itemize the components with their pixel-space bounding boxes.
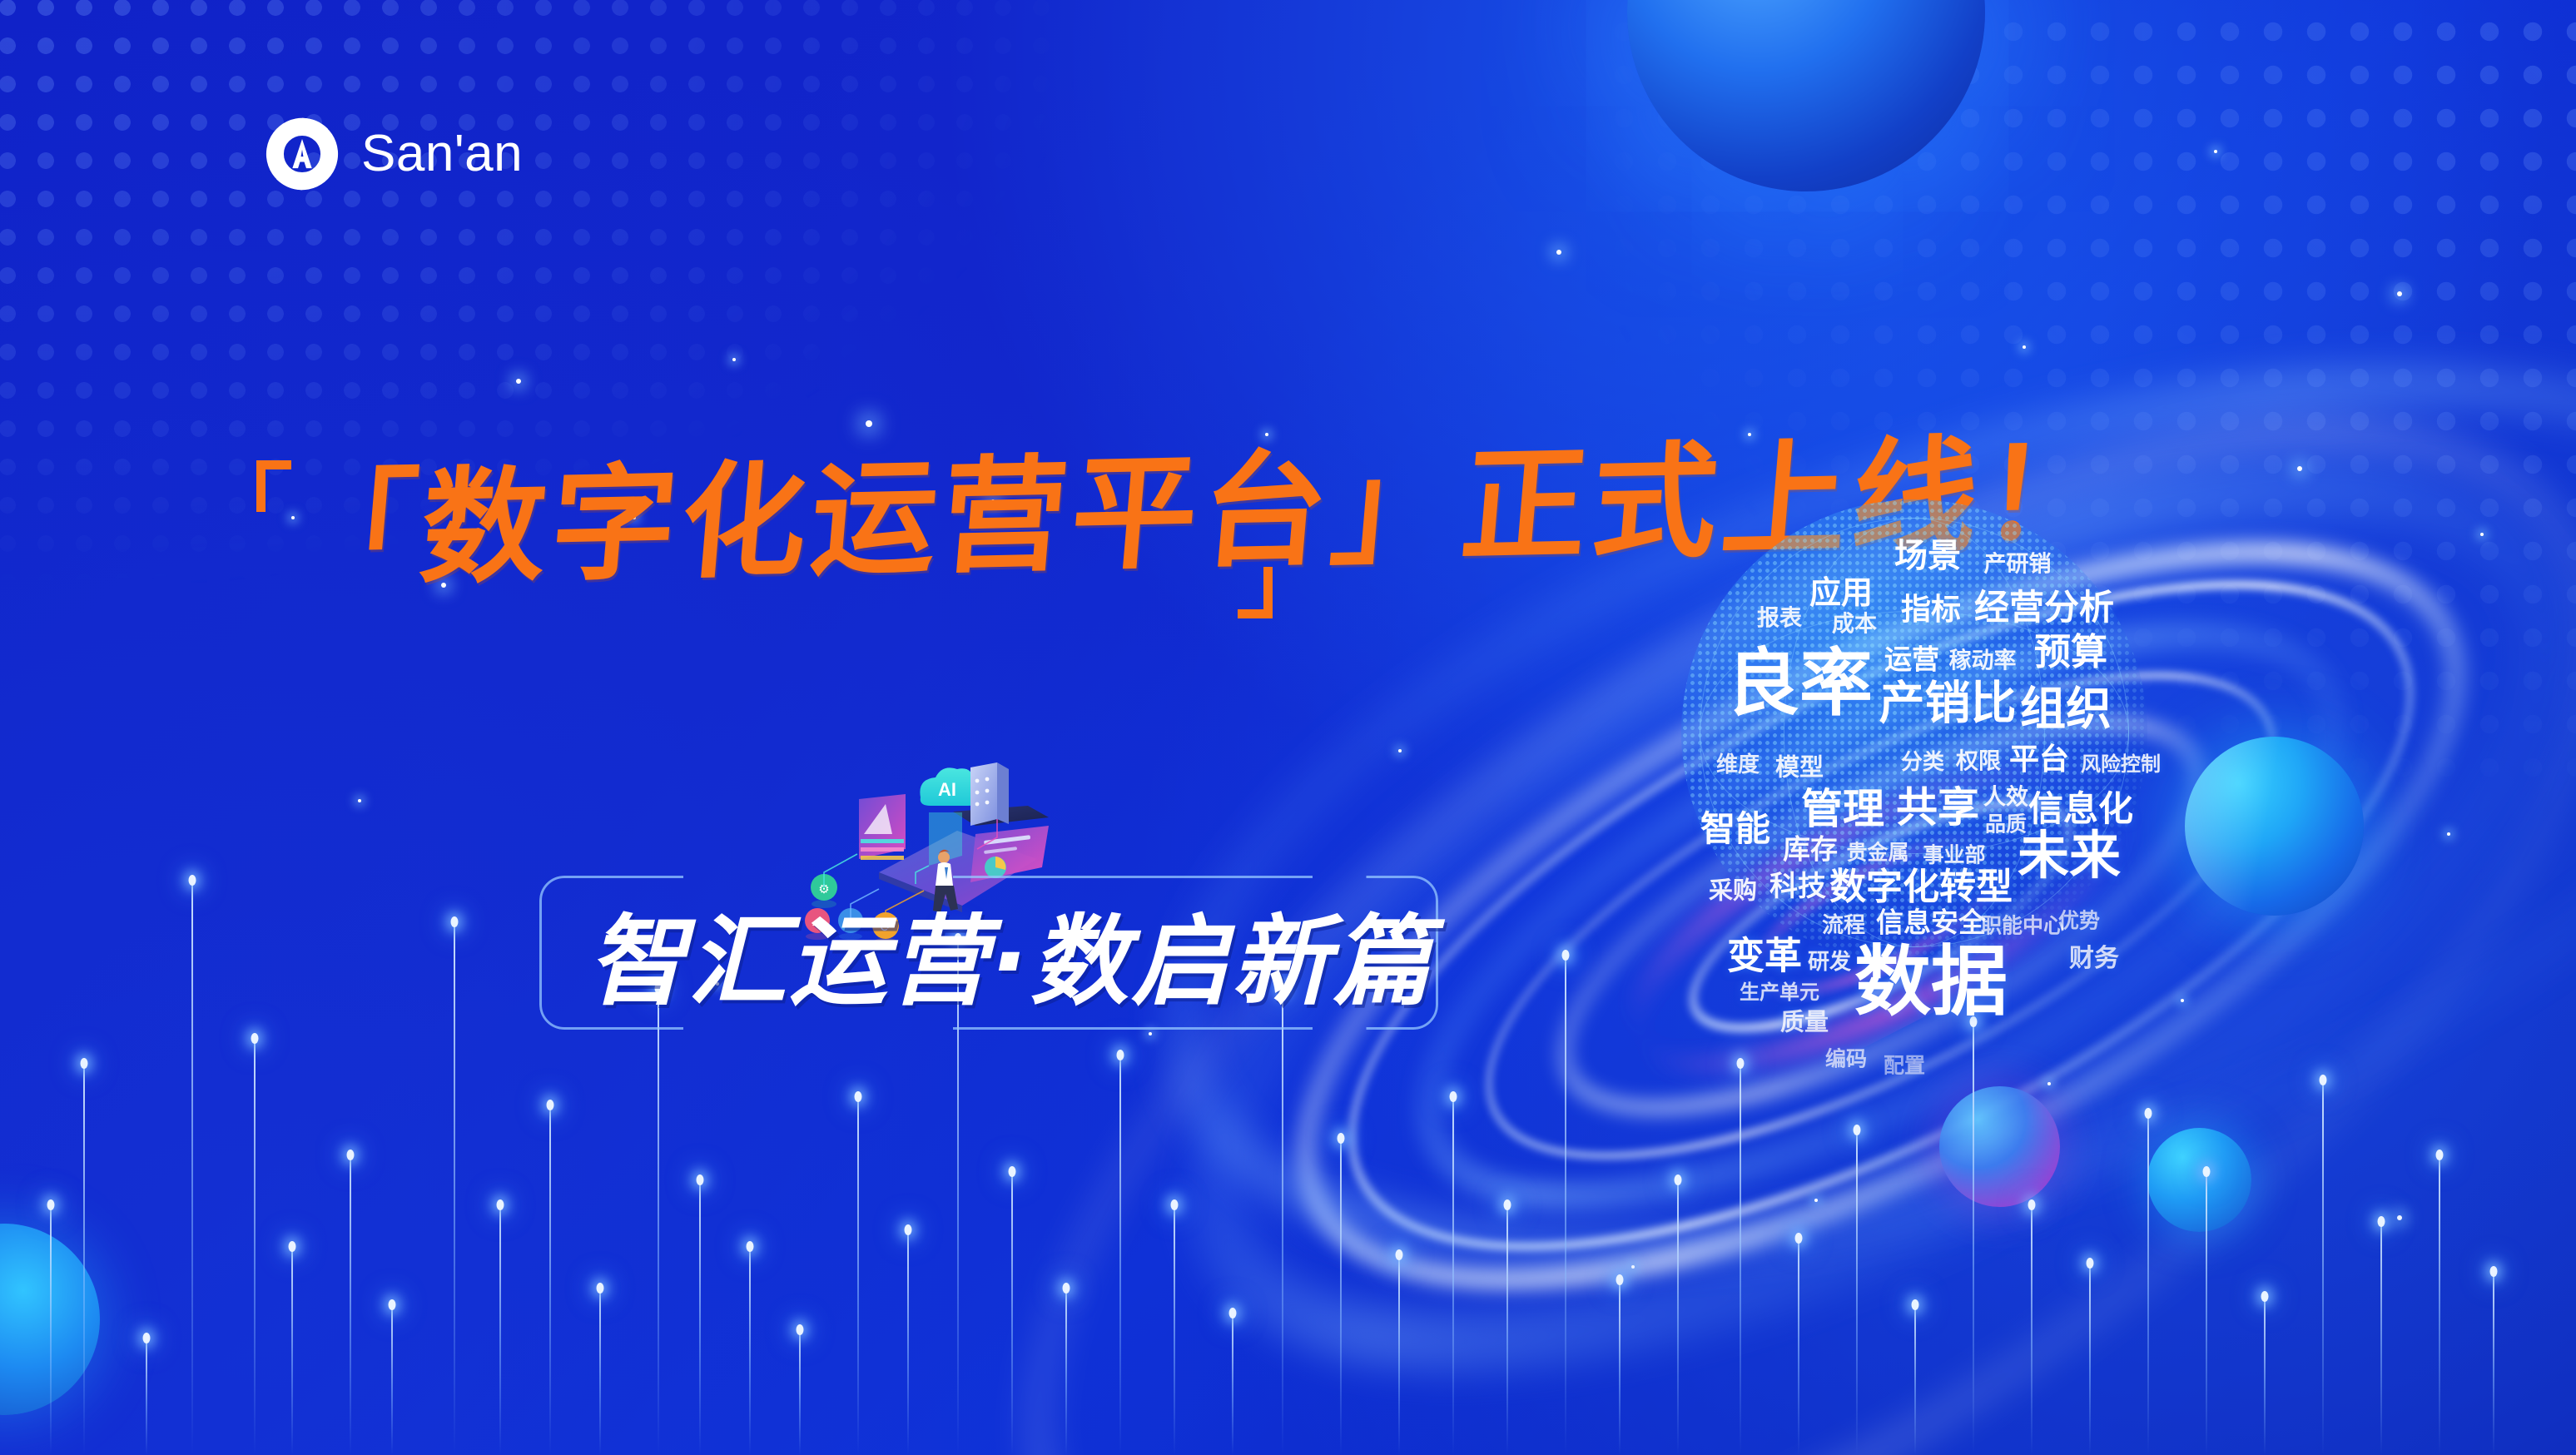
word-cloud-term: 信息安全 — [1876, 909, 1986, 936]
planet-large-top — [1627, 0, 1985, 191]
light-pillar — [1856, 1130, 1858, 1455]
light-pillar — [857, 1097, 859, 1455]
word-cloud-term: 变革 — [1727, 937, 1802, 975]
word-cloud-term: 组织 — [2020, 687, 2112, 732]
brand-logo[interactable]: San'an — [265, 117, 523, 191]
subtitle-block: 智汇运营·数启新篇 — [539, 876, 1438, 1030]
light-pillar — [1740, 1064, 1741, 1455]
star-sparkle — [1149, 1032, 1152, 1035]
light-pillar — [191, 881, 193, 1455]
word-cloud-term: 成本 — [1832, 613, 1877, 636]
word-cloud-term: 研发 — [1808, 951, 1851, 973]
headline: 「数字化运营平台」正式上线！ — [250, 454, 1748, 633]
light-pillar — [799, 1330, 801, 1455]
star-sparkle — [2047, 1082, 2051, 1085]
light-pillar — [1065, 1289, 1067, 1455]
planet-bottom-left — [0, 1224, 100, 1415]
light-pillar — [291, 1247, 293, 1455]
star-sparkle — [1814, 1199, 1818, 1202]
light-pillar — [1282, 989, 1283, 1455]
star-sparkle — [516, 379, 521, 384]
word-cloud-term: 指标 — [1901, 595, 1961, 625]
word-cloud-term: 经营分析 — [1974, 590, 2114, 625]
light-pillar — [1119, 1055, 1121, 1455]
light-pillar — [2493, 1272, 2494, 1455]
word-cloud-term: 产销比 — [1879, 681, 2016, 727]
word-cloud-term: 预算 — [2034, 634, 2107, 671]
star-sparkle — [2023, 345, 2026, 349]
word-cloud-globe: 场景产研销应用报表成本指标经营分析运营稼动率预算良率产销比组织维度模型分类权限平… — [1681, 499, 2147, 966]
star-sparkle — [358, 799, 361, 802]
light-pillar — [499, 1205, 501, 1455]
planet-cyan-small — [2147, 1128, 2251, 1232]
light-pillar — [907, 1230, 909, 1455]
word-cloud-term: 质量 — [1780, 1011, 1829, 1035]
light-pillar — [2031, 1205, 2033, 1455]
star-sparkle — [1398, 749, 1402, 752]
svg-text:AI: AI — [938, 779, 956, 800]
light-pillar — [2089, 1264, 2091, 1455]
word-cloud-term: 流程 — [1822, 915, 1865, 936]
word-cloud-term: 良率 — [1726, 647, 1873, 720]
word-cloud-term: 贵金属 — [1846, 842, 1908, 863]
word-cloud-term: 生产单元 — [1740, 982, 1819, 1002]
star-sparkle — [1556, 250, 1561, 255]
word-cloud-term: 稼动率 — [1949, 650, 2017, 673]
orbital-swirl-arcs — [0, 0, 2576, 1455]
light-pillar — [1677, 1180, 1679, 1455]
light-pillar — [1011, 1172, 1013, 1455]
brand-name: San'an — [361, 128, 523, 180]
light-pillar — [2264, 1297, 2266, 1455]
word-cloud-term: 未来 — [2018, 830, 2121, 881]
light-pillar — [599, 1289, 601, 1455]
planet-violet — [1939, 1086, 2060, 1207]
word-cloud-term: 职能中心 — [1981, 916, 2064, 936]
word-cloud-term: 库存 — [1783, 836, 1838, 863]
word-cloud-term: 维度 — [1716, 754, 1760, 776]
word-cloud-term: 信息化 — [2028, 792, 2133, 827]
word-cloud-term: 共享 — [1896, 787, 1979, 828]
word-cloud-term: 产研销 — [1984, 554, 2052, 576]
star-sparkle — [866, 420, 872, 427]
word-cloud-term: 报表 — [1757, 608, 1802, 630]
word-cloud-term: 运营 — [1884, 646, 1939, 673]
light-pillar — [391, 1305, 393, 1455]
word-cloud-term: 平台 — [2009, 745, 2069, 775]
star-sparkle — [2397, 291, 2402, 296]
planet-cyan-right — [2185, 737, 2364, 916]
light-pillar — [1174, 1205, 1175, 1455]
star-sparkle — [2181, 999, 2184, 1002]
word-cloud-term: 人效 — [1983, 787, 2028, 809]
light-pillar — [658, 989, 659, 1455]
light-pillar — [146, 1338, 147, 1455]
light-pillar — [454, 922, 455, 1455]
word-cloud-term: 编码 — [1825, 1049, 1867, 1070]
light-pillar — [1398, 1255, 1400, 1455]
word-cloud-term: 采购 — [1709, 879, 1757, 903]
word-cloud-term: 场景 — [1894, 539, 1961, 573]
light-pillar — [699, 1180, 701, 1455]
word-cloud-term: 管理 — [1801, 788, 1884, 830]
light-pillar — [350, 1155, 351, 1455]
word-cloud-term: 事业部 — [1923, 845, 1985, 866]
star-sparkle — [1631, 1265, 1635, 1269]
headline-bracket-open — [256, 460, 291, 512]
light-pillar — [1914, 1305, 1916, 1455]
sanan-ring-a-logo-icon — [265, 117, 340, 191]
light-pillar — [1340, 1139, 1342, 1455]
light-pillar — [1798, 1239, 1799, 1455]
light-pillar — [1506, 1205, 1508, 1455]
word-cloud-term: 财务 — [2069, 946, 2119, 971]
star-sparkle — [732, 358, 736, 361]
word-cloud-term: 应用 — [1809, 577, 1873, 608]
word-cloud-term: 科技 — [1769, 872, 1826, 901]
poster-canvas: San'an 「数字化运营平台」正式上线！ — [0, 0, 2576, 1455]
light-pillar — [2322, 1080, 2324, 1455]
word-cloud-term: 智能 — [1700, 812, 1770, 847]
light-pillar — [2380, 1222, 2382, 1455]
light-pillar — [83, 1064, 85, 1455]
word-cloud-term: 分类 — [1901, 752, 1944, 773]
word-cloud-term: 风险控制 — [2081, 754, 2161, 774]
light-pillar — [549, 1105, 551, 1455]
star-sparkle — [2297, 466, 2302, 471]
light-pillar — [254, 1039, 256, 1455]
star-sparkle — [2397, 1215, 2402, 1220]
light-pillar — [2439, 1155, 2440, 1455]
light-pillar — [1619, 1280, 1621, 1455]
light-pillar — [1565, 956, 1566, 1455]
light-pillar — [749, 1247, 751, 1455]
word-cloud-term: 权限 — [1956, 751, 2001, 773]
subtitle-text: 智汇运营·数启新篇 — [588, 912, 1403, 1011]
light-pillar — [1452, 1097, 1454, 1455]
word-cloud-term: 优势 — [2058, 911, 2100, 931]
light-pillar — [1232, 1313, 1233, 1455]
word-cloud-term: 模型 — [1775, 756, 1824, 780]
word-cloud-term: 配置 — [1884, 1055, 1925, 1076]
light-pillar — [1973, 1022, 1974, 1455]
star-sparkle — [2447, 832, 2450, 836]
word-cloud-term: 数据 — [1854, 944, 2008, 1020]
star-sparkle — [2214, 150, 2217, 153]
word-cloud-term: 数字化转型 — [1829, 869, 2013, 906]
star-sparkle — [1265, 433, 1268, 436]
star-sparkle — [2480, 533, 2484, 536]
